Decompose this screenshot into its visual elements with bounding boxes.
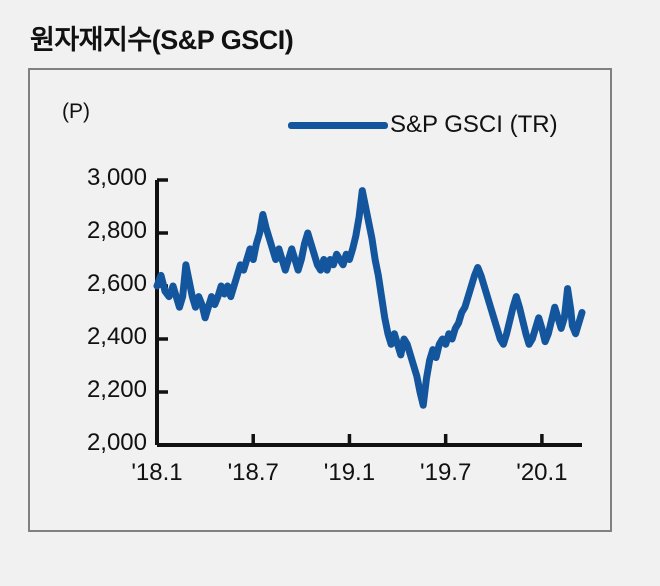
chart-frame: (P) S&P GSCI (TR) 3,0002,8002,6002,4002,… <box>28 68 612 532</box>
x-axis-tick-label: '19.1 <box>304 459 394 487</box>
y-axis-tick-label: 2,600 <box>51 270 147 298</box>
x-axis-tick-label: '18.1 <box>112 459 202 487</box>
series-line-sp-gsci <box>157 191 582 406</box>
y-axis-tick-label: 2,200 <box>51 376 147 404</box>
y-axis-tick-label: 2,000 <box>51 429 147 457</box>
y-axis-tick-label: 2,400 <box>51 323 147 351</box>
x-axis-tick-label: '18.7 <box>208 459 298 487</box>
y-axis-tick-label: 2,800 <box>51 217 147 245</box>
page-title: 원자재지수(S&P GSCI) <box>30 18 293 57</box>
x-axis-tick-label: '20.1 <box>497 459 587 487</box>
y-axis-tick-label: 3,000 <box>51 164 147 192</box>
x-axis-tick-label: '19.7 <box>401 459 491 487</box>
